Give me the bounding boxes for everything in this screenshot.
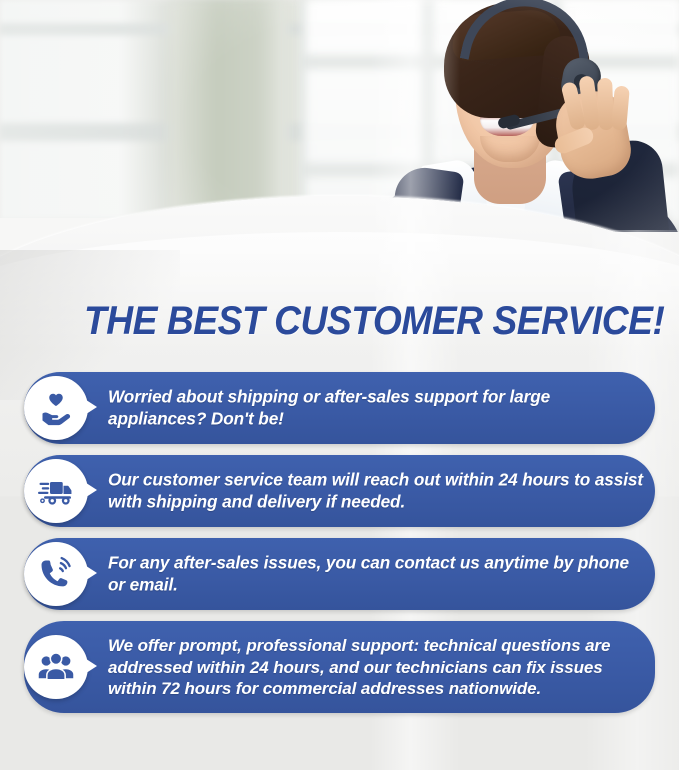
customer-service-poster: THE BEST CUSTOMER SERVICE! Worried about… (0, 0, 679, 770)
heart-in-hand-icon (38, 390, 74, 426)
list-item[interactable]: Worried about shipping or after-sales su… (0, 372, 679, 444)
benefit-icon-badge (24, 635, 88, 699)
benefit-icon-badge (24, 459, 88, 523)
support-team-icon (38, 649, 74, 685)
benefit-text: Worried about shipping or after-sales su… (108, 387, 643, 430)
benefits-list: Worried about shipping or after-sales su… (0, 372, 679, 724)
agent-finger (611, 85, 630, 130)
benefit-text: For any after-sales issues, you can cont… (108, 553, 643, 596)
benefit-icon-badge (24, 376, 88, 440)
list-item[interactable]: We offer prompt, professional support: t… (0, 621, 679, 713)
list-item[interactable]: For any after-sales issues, you can cont… (0, 538, 679, 610)
page-title: THE BEST CUSTOMER SERVICE! (84, 300, 664, 342)
delivery-truck-icon (38, 473, 74, 509)
list-item[interactable]: Our customer service team will reach out… (0, 455, 679, 527)
benefit-text: Our customer service team will reach out… (108, 470, 643, 513)
benefit-icon-badge (24, 542, 88, 606)
benefit-text: We offer prompt, professional support: t… (108, 635, 643, 700)
phone-call-icon (38, 556, 74, 592)
